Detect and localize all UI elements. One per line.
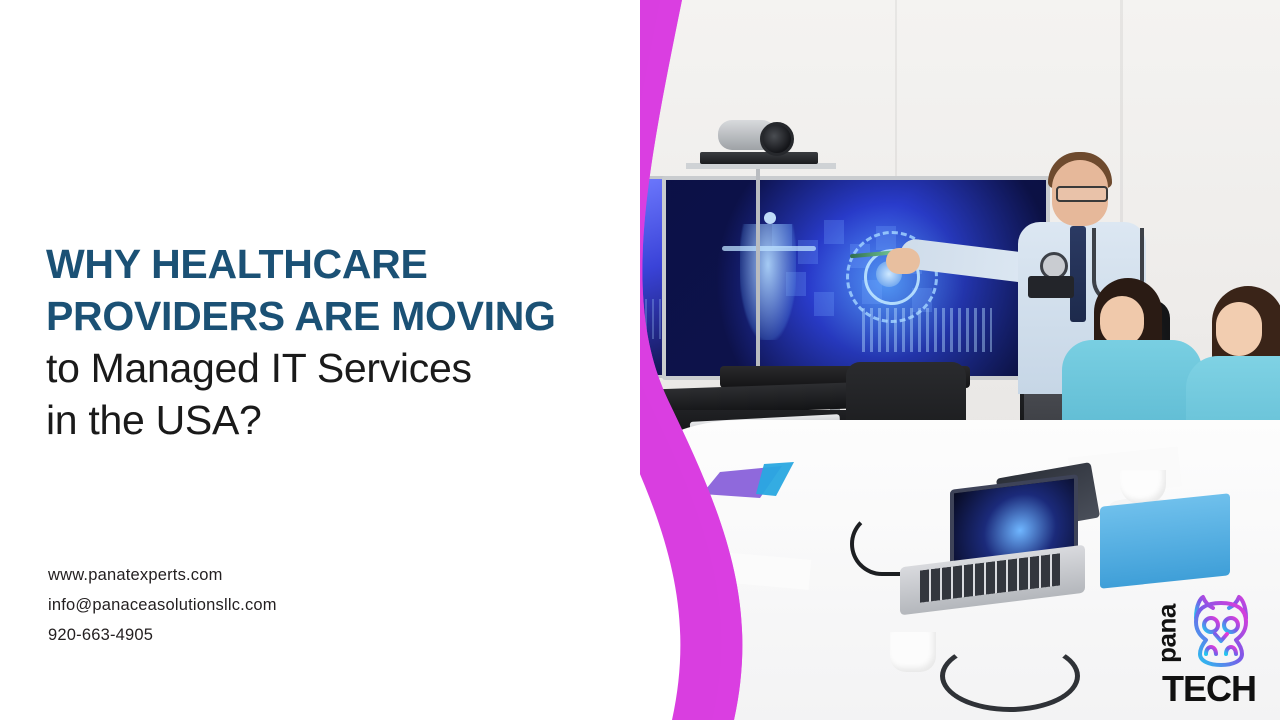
contact-phone[interactable]: 920-663-4905 <box>48 620 277 650</box>
doctor-glasses <box>1056 186 1108 202</box>
coffee-cup-far <box>1120 470 1166 504</box>
blue-binder <box>1100 493 1230 589</box>
smartphone <box>1028 276 1074 298</box>
doctor-hand <box>886 248 920 274</box>
headline-line-1: WHY HEALTHCARE <box>46 238 636 290</box>
contact-email[interactable]: info@panaceasolutionsllc.com <box>48 590 277 620</box>
nurse-right-face <box>1216 302 1262 356</box>
headline-line-3: to Managed IT Services <box>46 342 636 394</box>
camera-mount-bar <box>700 152 818 164</box>
panatech-logo[interactable]: pana TECH <box>1140 590 1270 710</box>
owl-icon <box>1182 592 1260 668</box>
nurse-left-face <box>1100 296 1144 346</box>
contact-website[interactable]: www.panatexperts.com <box>48 560 277 590</box>
doctor-tie <box>1070 226 1086 322</box>
camera-lens <box>760 122 794 156</box>
logo-text-pana: pana <box>1152 591 1183 677</box>
stethoscope-on-table <box>940 640 1080 712</box>
left-text-panel: WHY HEALTHCARE PROVIDERS ARE MOVING to M… <box>0 0 640 720</box>
coffee-cup-near <box>890 632 936 672</box>
banner-canvas: WHY HEALTHCARE PROVIDERS ARE MOVING to M… <box>0 0 1280 720</box>
data-bars <box>862 308 992 352</box>
contact-block: www.panatexperts.com info@panaceasolutio… <box>48 560 277 650</box>
headline-line-2: PROVIDERS ARE MOVING <box>46 290 636 342</box>
logo-text-tech: TECH <box>1162 668 1256 710</box>
headline-line-4: in the USA? <box>46 394 636 446</box>
headline-block: WHY HEALTHCARE PROVIDERS ARE MOVING to M… <box>46 238 636 446</box>
human-figure-hologram <box>740 224 796 340</box>
